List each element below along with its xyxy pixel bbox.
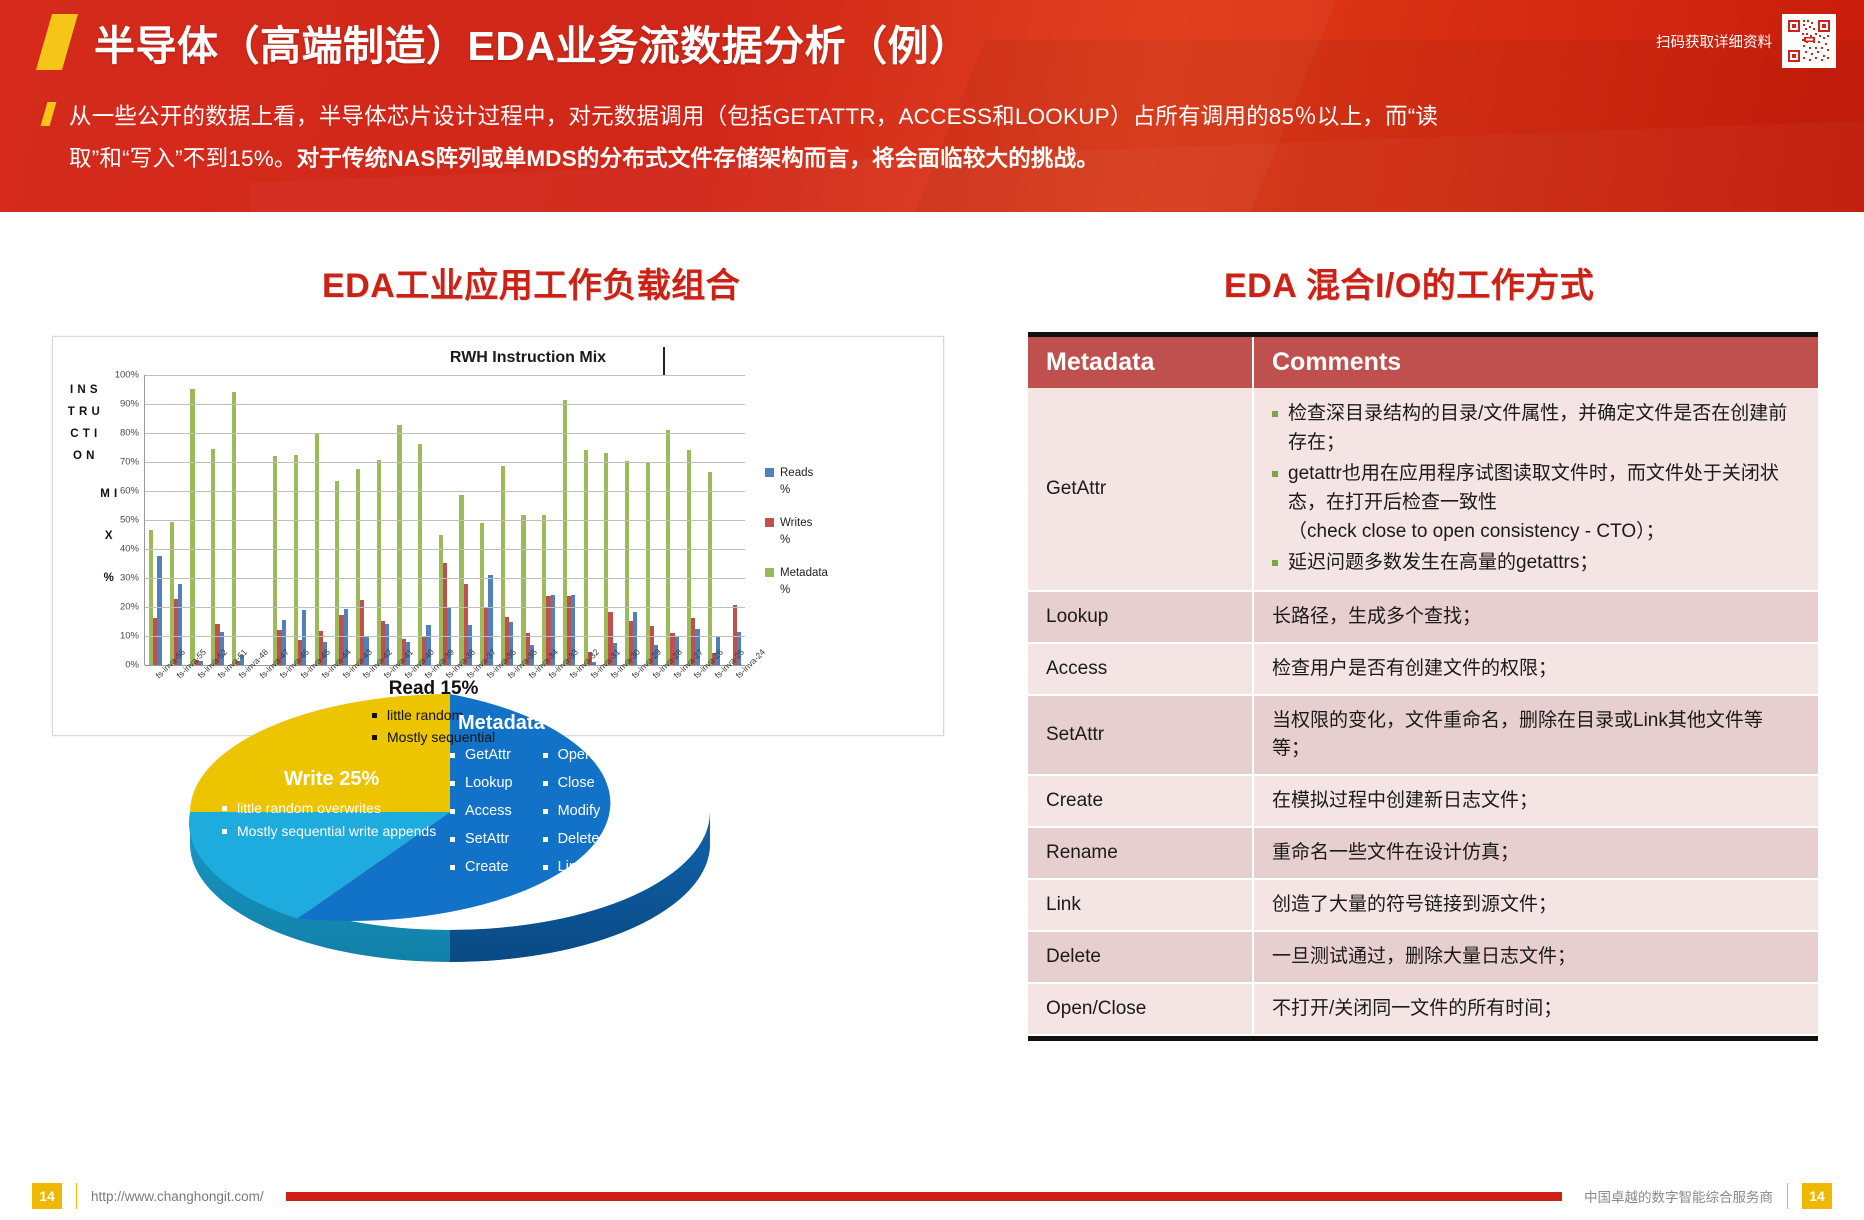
pie-metadata-item: Delete: [543, 831, 601, 847]
table-row: Access检查用户是否有创建文件的权限；: [1028, 643, 1818, 695]
qr-code-svg: [1785, 17, 1833, 65]
bar-metadata: [666, 430, 670, 665]
table-row: Link创造了大量的符号链接到源文件；: [1028, 879, 1818, 931]
pie-metadata-item: Create: [450, 859, 513, 875]
gridline: [145, 549, 745, 550]
bullet-icon: [450, 753, 455, 758]
table-header-row: Metadata Comments: [1028, 337, 1818, 388]
qr-block[interactable]: 扫码获取详细资料: [1656, 14, 1836, 68]
pie-metadata-item: Modify: [543, 803, 601, 819]
table-header-metadata: Metadata: [1028, 337, 1253, 388]
y-axis-tick-label: 70%: [120, 457, 139, 468]
bullet-icon: [543, 753, 548, 758]
comment-bullet-item: 延迟问题多数发生在高量的getattrs；: [1272, 548, 1800, 577]
gridline: [145, 375, 745, 376]
pie-read-title: Read 15%: [372, 678, 495, 700]
table-row: GetAttr检查深目录结构的目录/文件属性，并确定文件是否在创建前存在；get…: [1028, 388, 1818, 591]
table-cell-metadata-name: Access: [1028, 643, 1253, 695]
pie-metadata-item: Close: [543, 775, 601, 791]
pie-metadata-item: Access: [450, 803, 513, 819]
bar-metadata: [294, 455, 298, 665]
pie-metadata-item: SetAttr: [450, 831, 513, 847]
legend-item: Metadata%: [765, 565, 828, 599]
table-cell-metadata-name: Link: [1028, 879, 1253, 931]
y-axis-tick-label: 80%: [120, 428, 139, 439]
legend-item: Writes%: [765, 515, 828, 549]
table-cell-comment: 检查深目录结构的目录/文件属性，并确定文件是否在创建前存在；getattr也用在…: [1253, 388, 1818, 591]
table-cell-metadata-name: Rename: [1028, 827, 1253, 879]
gridline: [145, 578, 745, 579]
table-row: Delete一旦测试通过，删除大量日志文件；: [1028, 931, 1818, 983]
y-axis-tick-label: 10%: [120, 631, 139, 642]
bullet-icon: [450, 865, 455, 870]
bar-reads: [157, 556, 161, 665]
pie-metadata-item-text: SetAttr: [465, 831, 509, 847]
y-axis-label-mix: M I X %: [99, 473, 119, 599]
y-axis-tick-label: 30%: [120, 573, 139, 584]
legend-label: Writes%: [780, 515, 812, 549]
pie-metadata-item: Open: [543, 747, 601, 763]
pie-metadata-title: Metadata 60%: [450, 712, 600, 735]
comment-bullet-subline: （check close to open consistency - CTO）；: [1288, 517, 1800, 546]
table-cell-metadata-name: Create: [1028, 775, 1253, 827]
page-title: 半导体（高端制造）EDA业务流数据分析（例）: [94, 12, 971, 72]
legend-swatch-icon: [765, 518, 774, 527]
metadata-table-wrapper: Metadata Comments GetAttr检查深目录结构的目录/文件属性…: [1028, 332, 1818, 1041]
bullet-icon: [543, 809, 548, 814]
header-title-row: 半导体（高端制造）EDA业务流数据分析（例）: [44, 12, 971, 72]
gridline: [145, 462, 745, 463]
qr-code-icon[interactable]: [1782, 14, 1836, 68]
pie-metadata-item-text: Open: [558, 747, 593, 763]
page-footer: 14 http://www.changhongit.com/ 中国卓越的数字智能…: [0, 1172, 1864, 1220]
table-cell-comment: 不打开/关闭同一文件的所有时间；: [1253, 983, 1818, 1035]
table-cell-comment: 创造了大量的符号链接到源文件；: [1253, 879, 1818, 931]
y-axis-tick-label: 40%: [120, 544, 139, 555]
table-cell-comment: 一旦测试通过，删除大量日志文件；: [1253, 931, 1818, 983]
footer-slogan: 中国卓越的数字智能综合服务商: [1584, 1186, 1773, 1206]
legend-swatch-icon: [765, 468, 774, 477]
pie-metadata-item-text: Lookup: [465, 775, 513, 791]
table-cell-metadata-name: Open/Close: [1028, 983, 1253, 1035]
pie-chart: Read 15% little random Mostly sequential…: [150, 652, 750, 972]
section-title-right: EDA 混合I/O的工作方式: [1224, 258, 1594, 307]
metadata-table: Metadata Comments GetAttr检查深目录结构的目录/文件属性…: [1028, 337, 1818, 1036]
pie-metadata-item-text: Create: [465, 859, 509, 875]
gridline: [145, 520, 745, 521]
bar-metadata: [584, 450, 588, 665]
table-bottom-rule: [1028, 1036, 1818, 1041]
pie-metadata-item: GetAttr: [450, 747, 513, 763]
bullet-icon: [543, 781, 548, 786]
bullet-icon: [372, 735, 377, 740]
slide-content: EDA工业应用工作负载组合 EDA 混合I/O的工作方式 RWH Instruc…: [0, 212, 1864, 1172]
bullet-icon: [222, 829, 227, 834]
pie-slice-label-write: Write 25% little random overwrites Mostl…: [222, 768, 436, 846]
table-row: SetAttr当权限的变化，文件重命名，删除在目录或Link其他文件等等；: [1028, 695, 1818, 775]
subtitle-bold-text: 对于传统NAS阵列或单MDS的分布式文件存储架构而言，将会面临较大的挑战。: [297, 146, 1099, 171]
legend-swatch-icon: [765, 568, 774, 577]
legend-label: Reads%: [780, 465, 813, 499]
section-title-left: EDA工业应用工作负载组合: [322, 258, 740, 307]
y-axis-tick-label: 20%: [120, 602, 139, 613]
table-row: Lookup长路径，生成多个查找；: [1028, 591, 1818, 643]
gridline: [145, 607, 745, 608]
table-row: Create在模拟过程中创建新日志文件；: [1028, 775, 1818, 827]
pie-metadata-item-text: Access: [465, 803, 512, 819]
pie-write-item-0: little random overwrites: [222, 800, 436, 816]
page-number-left: 14: [32, 1183, 62, 1209]
table-cell-comment: 长路径，生成多个查找；: [1253, 591, 1818, 643]
table-cell-comment: 检查用户是否有创建文件的权限；: [1253, 643, 1818, 695]
pie-metadata-item-text: GetAttr: [465, 747, 511, 763]
bar-metadata: [190, 389, 194, 665]
bullet-icon: [450, 837, 455, 842]
comment-bullet-item: getattr也用在应用程序试图读取文件时，而文件处于关闭状态，在打开后检查一致…: [1272, 459, 1800, 546]
page-header: 半导体（高端制造）EDA业务流数据分析（例） 从一些公开的数据上看，半导体芯片设…: [0, 0, 1864, 212]
bullet-icon: [543, 837, 548, 842]
header-subtitle-block: 从一些公开的数据上看，半导体芯片设计过程中，对元数据调用（包括GETATTR，A…: [44, 96, 1514, 180]
bar-chart-legend: Reads%Writes%Metadata%: [765, 465, 828, 615]
legend-label: Metadata%: [780, 565, 828, 599]
y-axis-tick-label: 60%: [120, 486, 139, 497]
pie-metadata-item-text: Delete: [558, 831, 600, 847]
pie-slice-label-metadata: Metadata 60% GetAttr Lookup Access SetAt…: [450, 712, 600, 887]
y-axis-label-instruction: I N S T R U C T I O N: [65, 379, 103, 467]
bar-chart-title: RWH Instruction Mix: [53, 349, 943, 367]
pie-write-item-text: Mostly sequential write appends: [237, 823, 436, 839]
comment-bullet-item: 检查深目录结构的目录/文件属性，并确定文件是否在创建前存在；: [1272, 399, 1800, 457]
table-row: Rename重命名一些文件在设计仿真；: [1028, 827, 1818, 879]
y-axis-tick-label: 50%: [120, 515, 139, 526]
pie-metadata-item-text: Link: [558, 859, 585, 875]
y-axis-tick-label: 0%: [125, 660, 139, 671]
pie-metadata-item: Link: [543, 859, 601, 875]
gridline: [145, 636, 745, 637]
pie-metadata-item-text: Close: [558, 775, 595, 791]
y-axis-tick-label: 100%: [115, 370, 139, 381]
header-subtitle: 从一些公开的数据上看，半导体芯片设计过程中，对元数据调用（包括GETATTR，A…: [69, 96, 1514, 180]
pie-metadata-item: Lookup: [450, 775, 513, 791]
bar-metadata: [418, 444, 422, 665]
pie-metadata-col-1: GetAttr Lookup Access SetAttr Create: [450, 747, 513, 887]
table-cell-comment: 在模拟过程中创建新日志文件；: [1253, 775, 1818, 827]
legend-item: Reads%: [765, 465, 828, 499]
footer-divider: [76, 1183, 77, 1209]
table-cell-metadata-name: SetAttr: [1028, 695, 1253, 775]
table-row: Open/Close不打开/关闭同一文件的所有时间；: [1028, 983, 1818, 1035]
pie-write-item-text: little random overwrites: [237, 800, 381, 816]
footer-url[interactable]: http://www.changhongit.com/: [91, 1189, 264, 1204]
bullet-icon: [372, 713, 377, 718]
table-cell-metadata-name: Delete: [1028, 931, 1253, 983]
qr-caption: 扫码获取详细资料: [1656, 31, 1772, 52]
bullet-icon: [450, 781, 455, 786]
gridline: [145, 433, 745, 434]
table-body: GetAttr检查深目录结构的目录/文件属性，并确定文件是否在创建前存在；get…: [1028, 388, 1818, 1035]
table-cell-metadata-name: Lookup: [1028, 591, 1253, 643]
y-axis-tick-label: 90%: [120, 399, 139, 410]
bullet-icon: [543, 865, 548, 870]
pie-metadata-col-2: Open Close Modify Delete Link: [543, 747, 601, 887]
pie-metadata-item-text: Modify: [558, 803, 601, 819]
table-cell-comment: 当权限的变化，文件重命名，删除在目录或Link其他文件等等；: [1253, 695, 1818, 775]
pie-metadata-columns: GetAttr Lookup Access SetAttr Create Ope…: [450, 747, 600, 887]
table-cell-metadata-name: GetAttr: [1028, 388, 1253, 591]
table-cell-comment: 重命名一些文件在设计仿真；: [1253, 827, 1818, 879]
pie-write-item-1: Mostly sequential write appends: [222, 823, 436, 839]
page-number-right: 14: [1802, 1183, 1832, 1209]
footer-accent-bar: [286, 1192, 1562, 1201]
footer-divider: [1787, 1183, 1788, 1209]
bar-chart-plot-area: 0%10%20%30%40%50%60%70%80%90%100%: [145, 375, 745, 665]
gridline: [145, 404, 745, 405]
pie-write-title: Write 25%: [222, 768, 436, 791]
bar-chart-title-divider: [663, 347, 665, 375]
bullet-icon: [222, 806, 227, 811]
bullet-icon: [450, 809, 455, 814]
bar-metadata: [397, 425, 401, 665]
table-header-comments: Comments: [1253, 337, 1818, 388]
comment-bullet-list: 检查深目录结构的目录/文件属性，并确定文件是否在创建前存在；getattr也用在…: [1272, 399, 1800, 577]
gridline: [145, 491, 745, 492]
